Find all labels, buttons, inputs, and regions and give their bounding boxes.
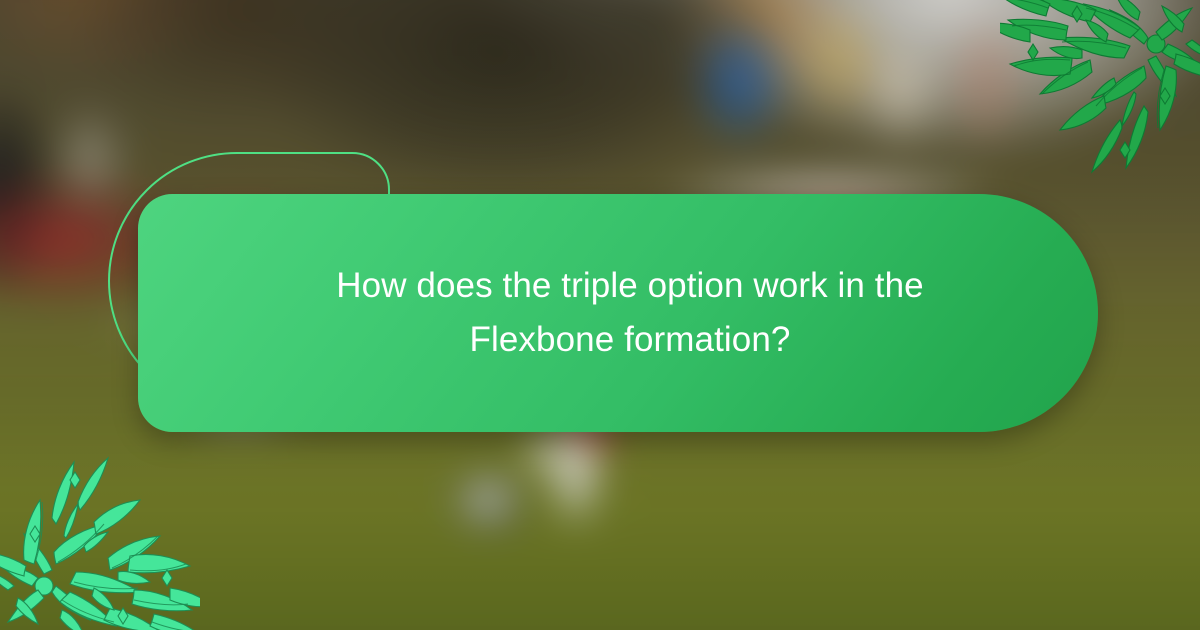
social-card-canvas: How does the triple option work in the F… (0, 0, 1200, 630)
question-card: How does the triple option work in the F… (138, 194, 1098, 432)
question-text: How does the triple option work in the F… (280, 259, 980, 368)
